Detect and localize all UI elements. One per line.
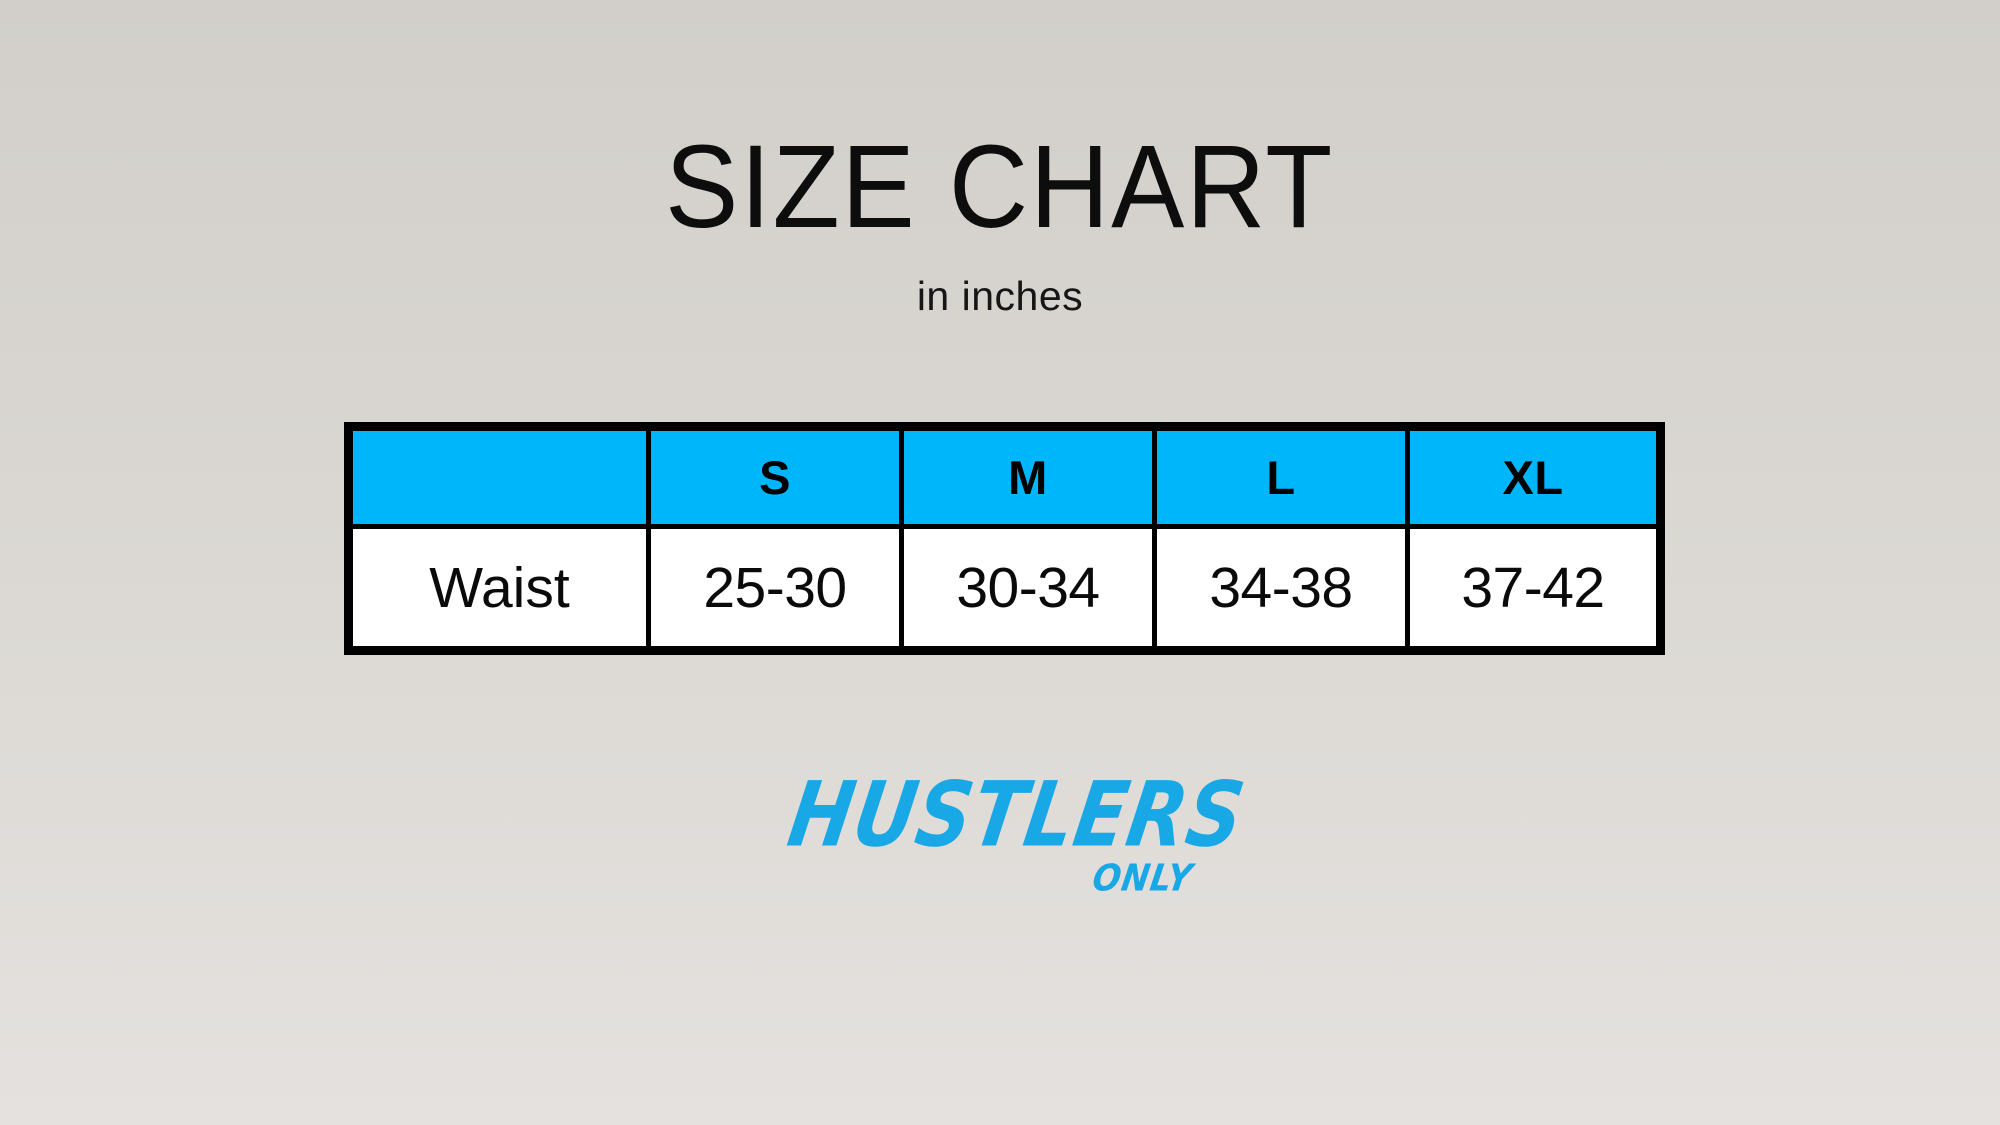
table-header-row: S M L XL [349, 427, 1661, 527]
cell-waist-m: 30-34 [902, 527, 1155, 651]
size-chart-page: SIZE CHART in inches S M L XL [0, 0, 2000, 1125]
brand-logo-wordmark: HUSTLERS [783, 770, 1217, 860]
size-table: S M L XL Waist 25-30 30-34 34-38 37-42 [344, 422, 1665, 655]
header-cell-m: M [902, 427, 1155, 527]
size-table-body: Waist 25-30 30-34 34-38 37-42 [349, 527, 1661, 651]
cell-waist-xl: 37-42 [1408, 527, 1661, 651]
size-table-container: S M L XL Waist 25-30 30-34 34-38 37-42 [344, 422, 1656, 655]
row-label-waist: Waist [349, 527, 649, 651]
brand-logo-tagline: ONLY [1090, 859, 1195, 896]
brand-logo: HUSTLERS ONLY [790, 777, 1210, 927]
page-title: SIZE CHART [665, 128, 1334, 246]
header-cell-l: L [1155, 427, 1408, 527]
cell-waist-s: 25-30 [649, 527, 902, 651]
page-subtitle: in inches [917, 276, 1083, 317]
table-row: Waist 25-30 30-34 34-38 37-42 [349, 527, 1661, 651]
header-cell-s: S [649, 427, 902, 527]
header-cell-blank [349, 427, 649, 527]
size-table-head: S M L XL [349, 427, 1661, 527]
header-cell-xl: XL [1408, 427, 1661, 527]
cell-waist-l: 34-38 [1155, 527, 1408, 651]
